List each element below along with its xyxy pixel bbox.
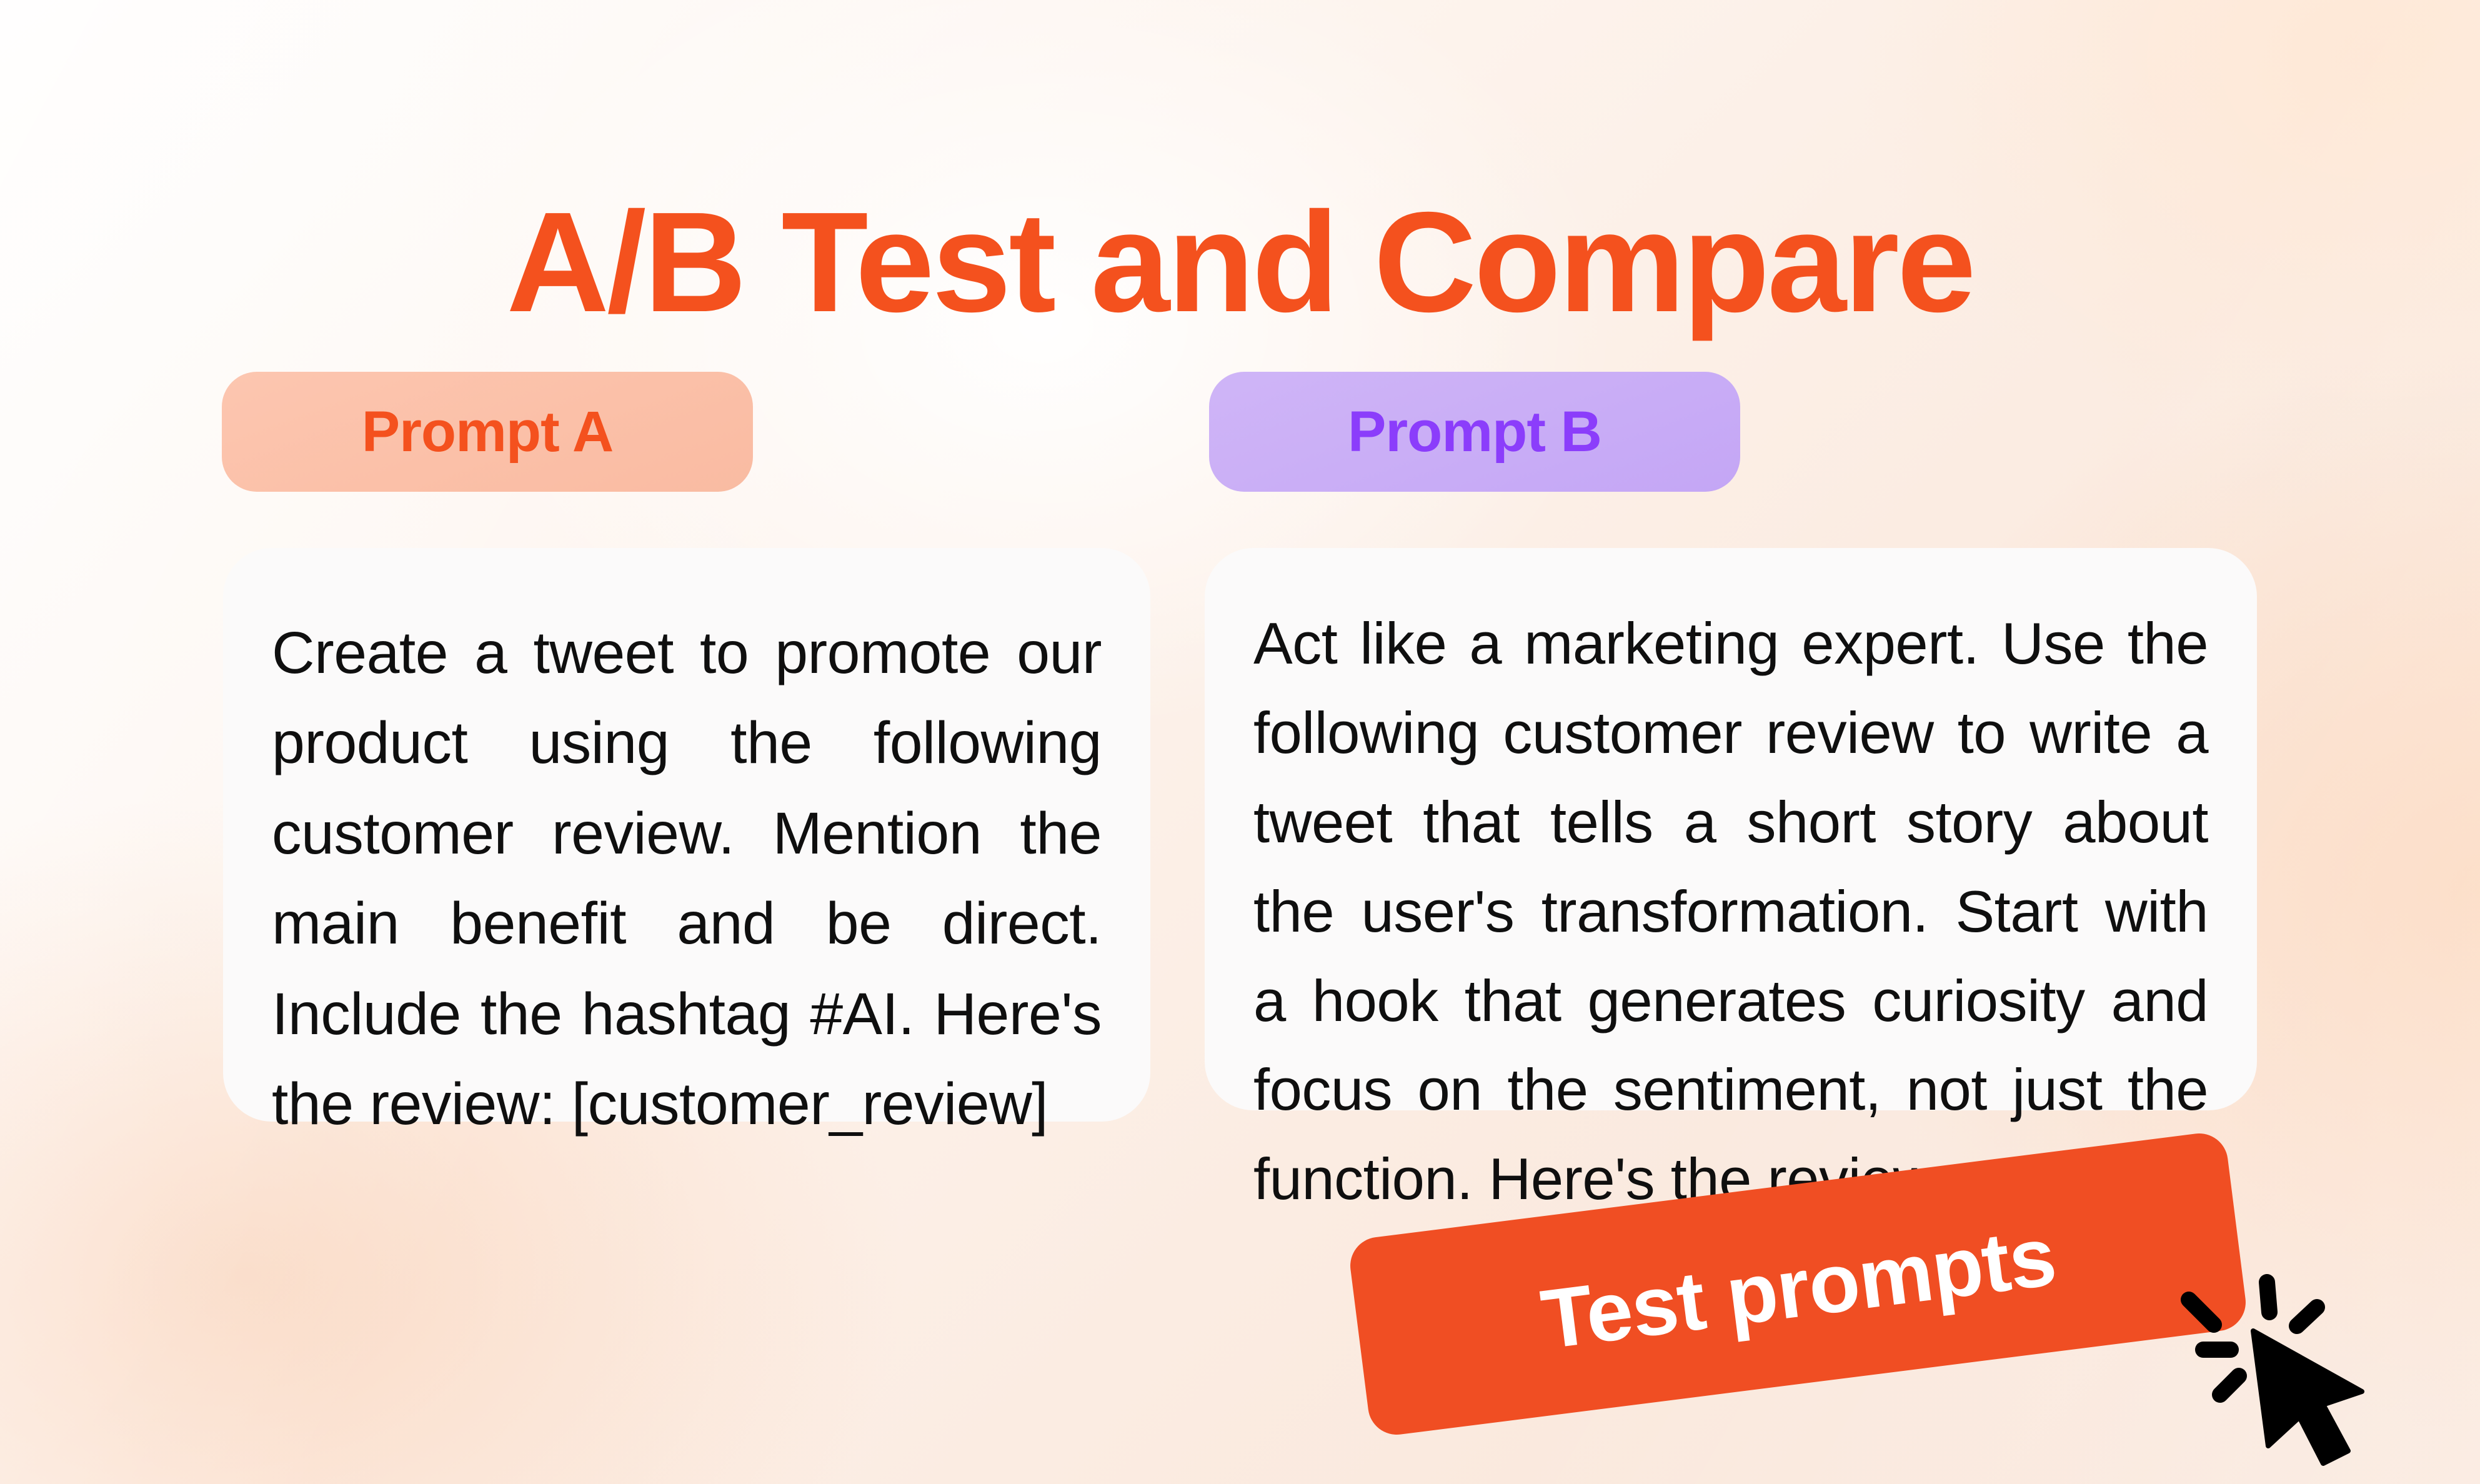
slide-canvas: A/B Test and Compare Prompt A Prompt B C…: [0, 0, 2480, 1484]
prompt-a-card: Create a tweet to promote our product us…: [223, 548, 1150, 1122]
prompt-b-card: Act like a marketing expert. Use the fol…: [1205, 548, 2257, 1110]
test-prompts-cta-group: Test prompts: [1356, 1155, 2262, 1430]
prompt-b-badge: Prompt B: [1209, 372, 1740, 492]
prompt-a-text: Create a tweet to promote our product us…: [272, 608, 1102, 1149]
prompt-a-badge-label: Prompt A: [362, 399, 614, 465]
test-prompts-button[interactable]: Test prompts: [1347, 1130, 2249, 1438]
prompt-b-text: Act like a marketing expert. Use the fol…: [1253, 599, 2208, 1224]
page-title: A/B Test and Compare: [0, 188, 2480, 337]
prompt-b-badge-label: Prompt B: [1348, 399, 1601, 465]
test-prompts-button-label: Test prompts: [1536, 1208, 2061, 1367]
prompt-a-badge: Prompt A: [222, 372, 753, 492]
